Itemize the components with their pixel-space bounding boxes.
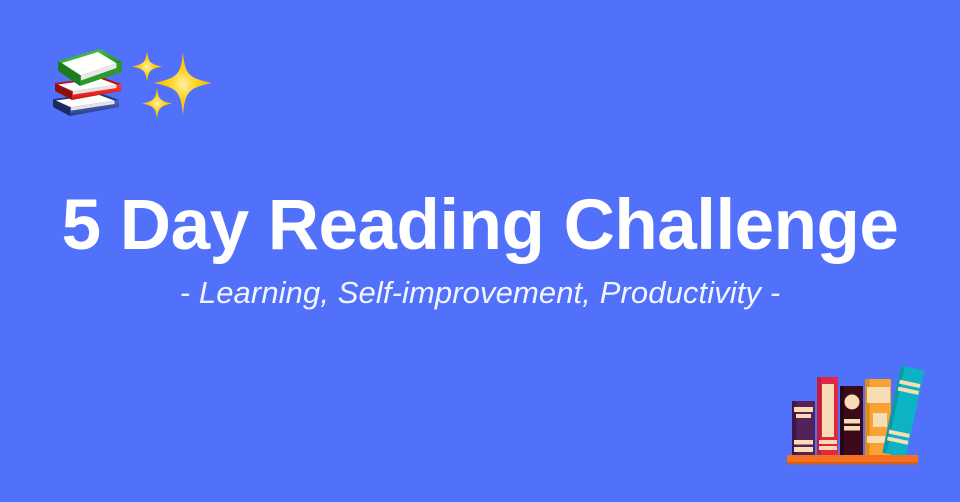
page-title: 5 Day Reading Challenge xyxy=(0,186,960,266)
emoji-decoration-row xyxy=(40,36,220,132)
headline-block: 5 Day Reading Challenge - Learning, Self… xyxy=(0,186,960,312)
purple-book xyxy=(792,401,815,455)
maroon-book xyxy=(840,386,863,455)
sparkle-large xyxy=(154,52,212,116)
page-subtitle: - Learning, Self-improvement, Productivi… xyxy=(0,274,960,312)
crimson-book xyxy=(817,377,838,455)
emoji-book-top xyxy=(58,49,122,86)
sparkles-emoji xyxy=(126,38,218,130)
sparkle-small-top xyxy=(132,51,162,82)
reading-challenge-banner: 5 Day Reading Challenge - Learning, Self… xyxy=(0,0,960,502)
books-stack-emoji xyxy=(40,36,130,126)
shelf-board xyxy=(787,455,918,465)
bookshelf-illustration xyxy=(782,358,928,470)
sparkle-small-bottom xyxy=(142,88,172,119)
